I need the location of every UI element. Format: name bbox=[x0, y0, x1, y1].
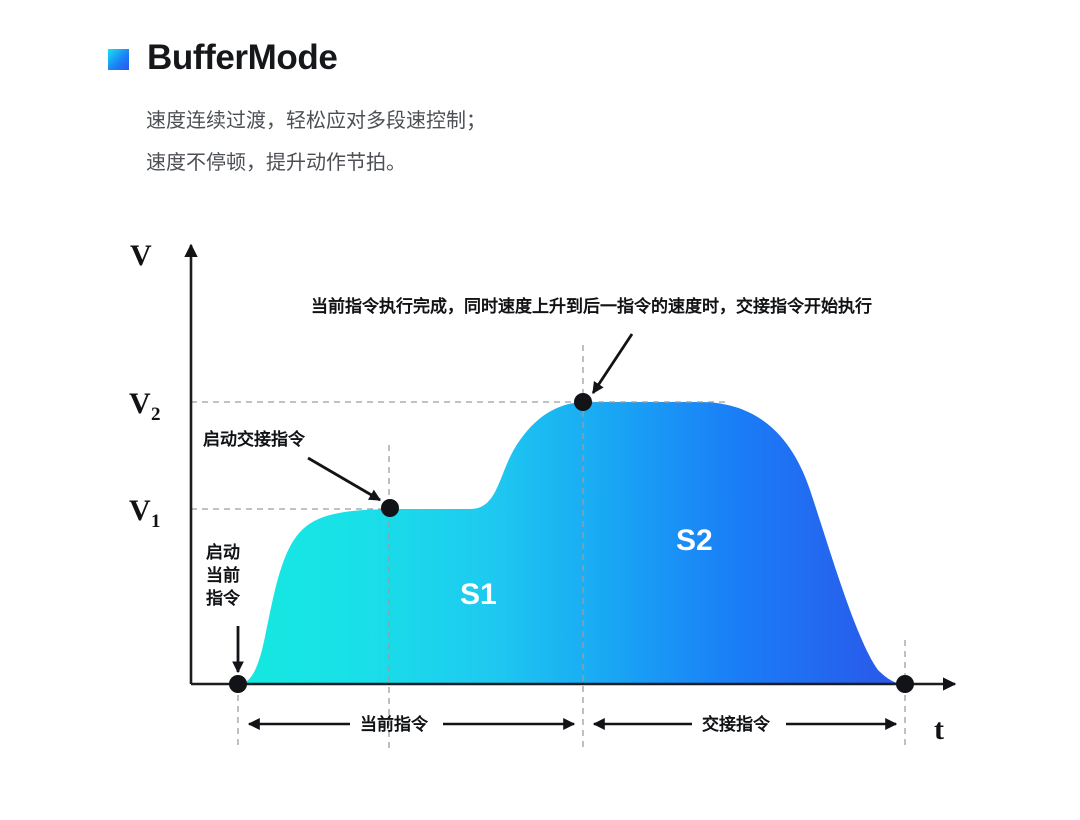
keypoint-start-dot bbox=[229, 675, 247, 693]
svg-text:V: V bbox=[129, 494, 151, 527]
svg-text:2: 2 bbox=[151, 404, 161, 425]
svg-text:t: t bbox=[934, 713, 944, 746]
x-axis-label: t bbox=[934, 713, 944, 746]
keypoint-end-dot bbox=[896, 675, 914, 693]
span-current-command-label: 当前指令 bbox=[360, 714, 429, 734]
segment-s1-label: S1 bbox=[460, 578, 497, 611]
segment-s2-label: S2 bbox=[676, 524, 713, 557]
annotation-start-buffer-command-text: 启动交接指令 bbox=[203, 429, 306, 449]
annotation-buffer-trigger-text: 当前指令执行完成，同时速度上升到后一指令的速度时，交接指令开始执行 bbox=[311, 296, 872, 316]
svg-text:1: 1 bbox=[151, 511, 161, 532]
svg-text:指令: 指令 bbox=[206, 588, 241, 608]
annotation-start-current-command-text: 启动 当前 指令 bbox=[206, 542, 241, 608]
span-buffer-command-label: 交接指令 bbox=[702, 714, 771, 734]
keypoint-v1-dot bbox=[381, 499, 399, 517]
y-axis-label: V bbox=[130, 239, 152, 272]
annotation-start-buffer-command-arrow bbox=[308, 458, 380, 500]
svg-text:启动: 启动 bbox=[206, 542, 240, 562]
svg-text:V: V bbox=[129, 387, 151, 420]
velocity-profile-chart: S1 S2 V V 2 V 1 t 当前指令执行完成，同时速度上升到后一指令的速… bbox=[0, 0, 1080, 820]
y-tick-label-v2: V 2 bbox=[129, 387, 161, 425]
svg-text:当前: 当前 bbox=[206, 565, 240, 585]
y-tick-label-v1: V 1 bbox=[129, 494, 161, 532]
velocity-area bbox=[238, 402, 905, 684]
keypoint-v2-dot bbox=[574, 393, 592, 411]
annotation-buffer-trigger-arrow bbox=[593, 334, 632, 393]
span-current-command: 当前指令 bbox=[249, 714, 574, 734]
span-buffer-command: 交接指令 bbox=[594, 714, 896, 734]
svg-text:V: V bbox=[130, 239, 152, 272]
